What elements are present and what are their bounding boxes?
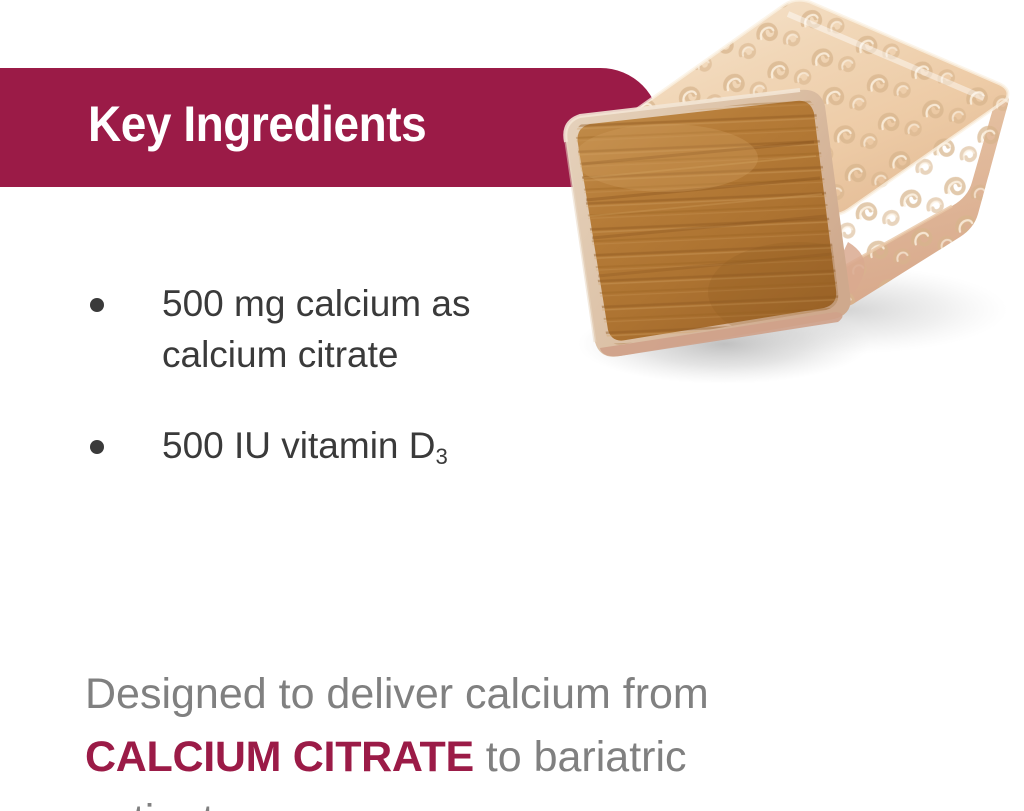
tagline-part1: Designed to deliver calcium from: [85, 670, 709, 718]
ingredient-subscript: 3: [436, 444, 448, 469]
tagline: Designed to deliver calcium from CALCIUM…: [85, 663, 845, 811]
bullet-dot-icon: [90, 440, 104, 454]
page-title: Key Ingredients: [88, 93, 426, 155]
list-item: 500 mg calcium as calcium citrate: [0, 278, 540, 380]
ingredient-label: 500 IU vitamin D3: [162, 425, 448, 466]
caramel-chews-photo: [548, 0, 1024, 402]
slide-canvas: Key Ingredients: [0, 0, 1024, 811]
ingredient-label: 500 mg calcium as calcium citrate: [162, 283, 470, 375]
rear-caramel-chew: [608, 0, 1024, 322]
ingredient-text-main: 500 IU vitamin D: [162, 425, 436, 466]
list-item: 500 IU vitamin D3: [0, 420, 540, 476]
ingredients-list: 500 mg calcium as calcium citrate 500 IU…: [0, 278, 540, 476]
ingredient-text-main: 500 mg calcium as calcium citrate: [162, 283, 470, 375]
bullet-dot-icon: [90, 298, 104, 312]
tagline-emphasis: CALCIUM CITRATE: [85, 733, 474, 781]
